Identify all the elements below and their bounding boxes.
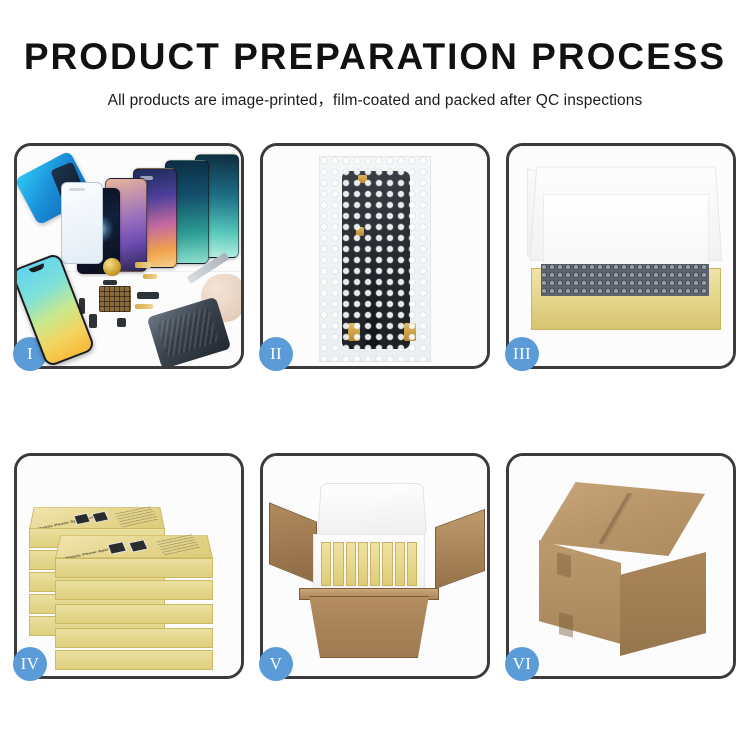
yellow-boxes-group xyxy=(321,542,417,586)
bubble-wrap-bag xyxy=(319,156,431,362)
step-1-image xyxy=(17,146,241,366)
header: PRODUCT PREPARATION PROCESS All products… xyxy=(0,0,750,110)
box-front xyxy=(55,580,213,600)
step-6-image xyxy=(509,456,733,676)
box-thumb-2 xyxy=(128,540,148,553)
stacked-box-f3 xyxy=(55,624,213,648)
carton-tape-patch-1 xyxy=(557,552,571,577)
step-3-image xyxy=(509,146,733,366)
stacked-box-top-front: Mobile Phone Spare Parts xyxy=(55,524,213,578)
small-part-i xyxy=(137,292,159,299)
stacked-box-f1 xyxy=(55,576,213,600)
box-lid-printed: Mobile Phone Spare Parts xyxy=(55,535,213,558)
tempered-glass-sheet xyxy=(61,182,103,264)
small-part-c xyxy=(143,274,157,279)
step-badge-2: II xyxy=(259,337,293,371)
box-spec-lines xyxy=(156,534,200,556)
box-front xyxy=(55,650,213,670)
carton-right-face xyxy=(620,552,706,656)
yellow-box xyxy=(382,542,392,586)
step-2-image xyxy=(263,146,487,366)
box-front xyxy=(55,628,213,648)
step-panel-5: V xyxy=(260,453,490,679)
small-part-b xyxy=(135,262,151,268)
step-panel-4: Mobile Phone Spare Parts xyxy=(14,453,244,679)
step-badge-4: IV xyxy=(13,647,47,681)
small-part-k xyxy=(117,318,126,327)
carton-flap-right xyxy=(435,509,485,589)
step-panel-1: I xyxy=(14,143,244,369)
product-preparation-infographic: PRODUCT PREPARATION PROCESS All products… xyxy=(0,0,750,750)
small-part-j xyxy=(135,304,153,309)
stacked-box-f4 xyxy=(55,648,213,670)
carton-tape-patch-2 xyxy=(559,612,573,637)
carton-front xyxy=(301,596,437,658)
bubble-texture xyxy=(320,157,430,361)
step-4-image: Mobile Phone Spare Parts xyxy=(17,456,241,676)
foam-box-lid xyxy=(317,483,427,537)
bubble-wrapped-contents xyxy=(541,264,709,296)
yellow-box xyxy=(333,542,343,586)
yellow-box xyxy=(395,542,405,586)
box-front xyxy=(55,604,213,624)
step-badge-5: V xyxy=(259,647,293,681)
step-badge-3: III xyxy=(505,337,539,371)
step-panel-3: III xyxy=(506,143,736,369)
coil-part-icon xyxy=(103,258,121,276)
step-panel-2: II xyxy=(260,143,490,369)
steps-grid: I II xyxy=(14,143,736,679)
yellow-box xyxy=(346,542,356,586)
sealed-carton xyxy=(525,482,719,652)
yellow-box xyxy=(358,542,368,586)
step-5-image xyxy=(263,456,487,676)
box-thumb-2 xyxy=(92,511,110,523)
phone-back-housing xyxy=(147,297,232,366)
page-title: PRODUCT PREPARATION PROCESS xyxy=(0,38,750,77)
page-subtitle: All products are image-printed，film-coat… xyxy=(0,88,750,110)
chip-board-part xyxy=(99,286,131,312)
box-stack: Mobile Phone Spare Parts xyxy=(25,472,237,668)
yellow-box xyxy=(370,542,380,586)
yellow-box xyxy=(407,542,417,586)
step-badge-6: VI xyxy=(505,647,539,681)
box-thumb-1 xyxy=(107,541,127,554)
yellow-box xyxy=(321,542,331,586)
foam-sheet xyxy=(543,194,709,272)
box-front xyxy=(55,558,213,578)
small-part-f xyxy=(89,314,97,328)
carton-flap-left xyxy=(269,502,317,583)
stacked-box-f2 xyxy=(55,600,213,624)
small-part-l xyxy=(103,280,117,285)
step-panel-6: VI xyxy=(506,453,736,679)
carton-left-face xyxy=(539,540,621,644)
